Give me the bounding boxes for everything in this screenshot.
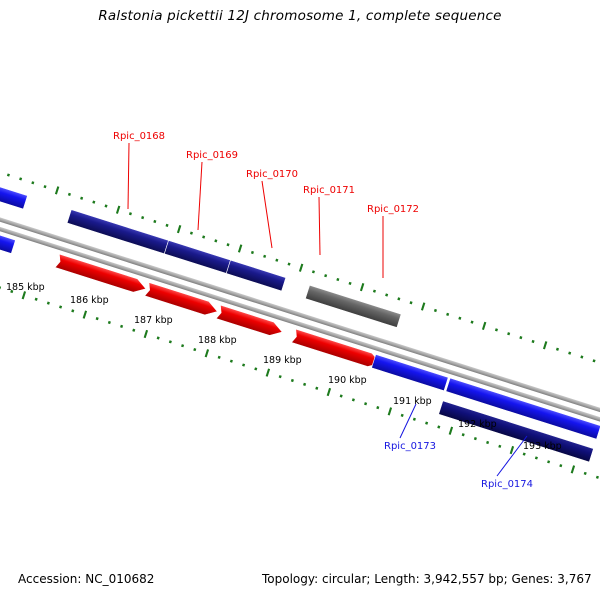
status-bar: Accession: NC_010682 Topology: circular;… — [0, 572, 600, 592]
ruler-minor-tick — [434, 309, 437, 312]
ruler-minor-tick — [80, 197, 83, 200]
ruler-minor-tick — [141, 216, 144, 219]
ruler-major-tick — [327, 388, 331, 396]
ruler-minor-tick — [532, 340, 535, 343]
label-leader-line — [262, 181, 272, 248]
ruler-minor-tick — [498, 445, 501, 448]
ruler-minor-tick — [0, 286, 1, 289]
ruler-minor-tick — [47, 302, 50, 305]
ruler-minor-tick — [535, 456, 538, 459]
scale-tick-label: 187 kbp — [134, 315, 173, 326]
scale-tick-label: 192 kbp — [458, 419, 497, 430]
gene-label[interactable]: Rpic_0169 — [186, 150, 238, 161]
ruler-major-tick — [543, 341, 547, 349]
ruler-minor-tick — [43, 185, 46, 188]
ruler-minor-tick — [385, 293, 388, 296]
ruler-minor-tick — [31, 181, 34, 184]
gene-label[interactable]: Rpic_0170 — [246, 169, 298, 180]
ruler-minor-tick — [169, 340, 172, 343]
ruler-major-tick — [421, 302, 425, 310]
ruler-minor-tick — [181, 344, 184, 347]
ruler-minor-tick — [193, 348, 196, 351]
ruler-minor-tick — [157, 336, 160, 339]
ruler-minor-tick — [275, 259, 278, 262]
ruler-minor-tick — [312, 270, 315, 273]
ruler-minor-tick — [462, 433, 465, 436]
ruler-minor-tick — [556, 348, 559, 351]
ruler-minor-tick — [364, 402, 367, 405]
label-leader-line — [497, 436, 527, 476]
ruler-minor-tick — [376, 406, 379, 409]
ruler-minor-tick — [547, 460, 550, 463]
ruler-major-tick — [266, 369, 270, 377]
ruler-minor-tick — [458, 317, 461, 320]
ruler-minor-tick — [291, 379, 294, 382]
ruler-minor-tick — [251, 251, 254, 254]
ruler-minor-tick — [165, 224, 168, 227]
genome-backbone[interactable] — [0, 213, 600, 425]
ruler-minor-tick — [584, 472, 587, 475]
ruler-minor-tick — [336, 278, 339, 281]
scale-tick-label: 186 kbp — [70, 295, 109, 306]
ruler-minor-tick — [254, 367, 257, 370]
ruler-minor-tick — [68, 193, 71, 196]
ruler-major-tick — [83, 310, 87, 318]
ruler-minor-tick — [519, 336, 522, 339]
ruler-minor-tick — [486, 441, 489, 444]
scale-tick-label: 190 kbp — [328, 375, 367, 386]
scale-tick-label: 188 kbp — [198, 335, 237, 346]
ruler-minor-tick — [132, 329, 135, 332]
ruler-minor-tick — [59, 305, 62, 308]
ruler-minor-tick — [190, 232, 193, 235]
gene-feature[interactable] — [226, 260, 286, 291]
ruler-minor-tick — [349, 282, 352, 285]
ruler-minor-tick — [410, 301, 413, 304]
ruler-minor-tick — [568, 351, 571, 354]
ruler-minor-tick — [425, 422, 428, 425]
ruler-minor-tick — [596, 476, 599, 479]
ruler-minor-tick — [471, 321, 474, 324]
ruler-minor-tick — [446, 313, 449, 316]
ruler-major-tick — [299, 264, 303, 272]
ruler-minor-tick — [227, 243, 230, 246]
scale-tick-label: 193 kbp — [523, 441, 562, 452]
ruler-minor-tick — [315, 387, 318, 390]
scale-tick-label: 185 kbp — [6, 282, 45, 293]
ruler-minor-tick — [523, 452, 526, 455]
genome-map-canvas[interactable]: 185 kbp186 kbp187 kbp188 kbp189 kbp190 k… — [0, 0, 600, 600]
gene-label[interactable]: Rpic_0173 — [384, 441, 436, 452]
gene-labels-group[interactable]: Rpic_0168Rpic_0169Rpic_0170Rpic_0171Rpic… — [113, 131, 533, 490]
ruler-minor-tick — [7, 173, 10, 176]
ruler-major-tick — [55, 186, 59, 194]
ruler-major-tick — [238, 244, 242, 252]
ruler-minor-tick — [129, 212, 132, 215]
ruler-minor-tick — [507, 332, 510, 335]
ruler-minor-tick — [373, 290, 376, 293]
ruler-major-tick — [144, 330, 148, 338]
gene-label[interactable]: Rpic_0171 — [303, 185, 355, 196]
ruler-minor-tick — [324, 274, 327, 277]
ruler-minor-tick — [96, 317, 99, 320]
gene-label[interactable]: Rpic_0172 — [367, 204, 419, 215]
ruler-minor-tick — [580, 355, 583, 358]
ruler-minor-tick — [559, 464, 562, 467]
ruler-minor-tick — [242, 363, 245, 366]
label-leader-line — [198, 162, 202, 230]
ruler-minor-tick — [340, 394, 343, 397]
ruler-major-tick — [571, 465, 575, 473]
ruler-minor-tick — [397, 297, 400, 300]
ruler-minor-tick — [288, 262, 291, 265]
ruler-minor-tick — [474, 437, 477, 440]
ruler-minor-tick — [413, 418, 416, 421]
ruler-minor-tick — [120, 325, 123, 328]
accession-text: Accession: NC_010682 — [18, 572, 154, 586]
ruler-major-tick — [449, 427, 453, 435]
gene-feature[interactable] — [164, 240, 230, 273]
label-leader-line — [128, 143, 129, 209]
ruler-minor-tick — [437, 425, 440, 428]
ruler-minor-tick — [92, 201, 95, 204]
ruler-minor-tick — [593, 359, 596, 362]
ruler-minor-tick — [279, 375, 282, 378]
ruler-major-tick — [510, 446, 514, 454]
ruler-major-tick — [205, 349, 209, 357]
ruler-major-tick — [482, 322, 486, 330]
ruler-minor-tick — [401, 414, 404, 417]
ruler-minor-tick — [352, 398, 355, 401]
ruler-minor-tick — [71, 309, 74, 312]
ruler-minor-tick — [303, 383, 306, 386]
ruler-minor-tick — [202, 235, 205, 238]
ruler-minor-tick — [263, 255, 266, 258]
ruler-minor-tick — [35, 298, 38, 301]
ruler-major-tick — [177, 225, 181, 233]
ruler-minor-tick — [104, 204, 107, 207]
topology-text: Topology: circular; Length: 3,942,557 bp… — [262, 572, 592, 586]
ruler-minor-tick — [153, 220, 156, 223]
label-leader-line — [319, 197, 320, 255]
ruler-minor-tick — [19, 177, 22, 180]
ruler-minor-tick — [230, 360, 233, 363]
gene-feature[interactable] — [0, 173, 27, 209]
gene-label[interactable]: Rpic_0174 — [481, 479, 533, 490]
ruler-minor-tick — [218, 356, 221, 359]
ruler-minor-tick — [214, 239, 217, 242]
ruler-minor-tick — [495, 328, 498, 331]
scale-tick-label: 191 kbp — [393, 396, 432, 407]
ruler-major-tick — [360, 283, 364, 291]
ruler-minor-tick — [108, 321, 111, 324]
gene-label[interactable]: Rpic_0168 — [113, 131, 165, 142]
ruler-major-tick — [116, 206, 120, 214]
scale-tick-label: 189 kbp — [263, 355, 302, 366]
label-leader-line — [400, 404, 416, 438]
gene-track-group[interactable] — [0, 173, 600, 462]
ruler-major-tick — [388, 407, 392, 415]
